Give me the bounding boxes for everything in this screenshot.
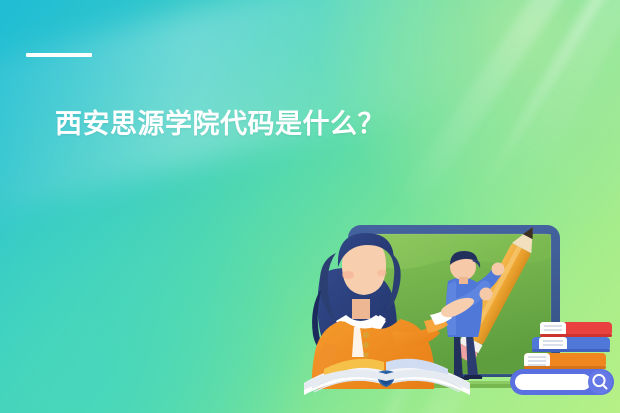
article-cover: 西安思源学院代码是什么？ [0,0,620,413]
background-streak-1 [392,0,598,219]
search-bar [510,369,614,395]
background-streak-2 [473,0,620,201]
education-study-illustration [296,203,620,413]
background-streak-3 [496,0,620,182]
page-title: 西安思源学院代码是什么？ [55,104,385,144]
background-glow-bottom-left [0,173,330,413]
accent-rule [26,53,92,57]
